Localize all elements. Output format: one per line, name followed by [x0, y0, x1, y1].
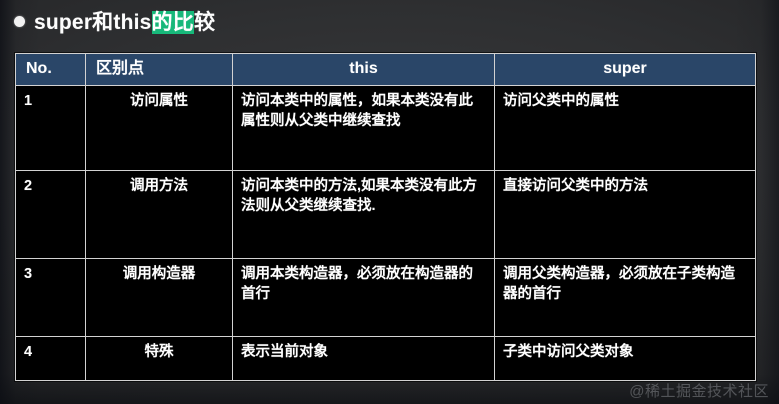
- page-title: super和this的比较: [34, 6, 215, 36]
- cell-point: 调用构造器: [86, 258, 233, 336]
- title-highlighted-segment: 的比: [152, 11, 194, 34]
- title-prefix: super和this: [34, 11, 152, 34]
- table-row: 3 调用构造器 调用本类构造器，必须放在构造器的首行 调用父类构造器，必须放在子…: [16, 258, 756, 336]
- table-row: 2 调用方法 访问本类中的方法,如果本类没有此方法则从父类继续查找. 直接访问父…: [16, 170, 756, 258]
- column-header-point: 区别点: [86, 54, 233, 86]
- table-row: 1 访问属性 访问本类中的属性，如果本类没有此属性则从父类中继续查找 访问父类中…: [16, 85, 756, 170]
- cell-super: 直接访问父类中的方法: [495, 170, 756, 258]
- table-header: No. 区别点 this super: [16, 54, 756, 86]
- cell-this: 表示当前对象: [233, 336, 495, 380]
- bullet-dot-icon: [14, 16, 25, 27]
- title-suffix: 较: [194, 11, 215, 34]
- comparison-table: No. 区别点 this super 1 访问属性 访问本类中的属性，如果本类没…: [15, 53, 756, 381]
- column-header-no: No.: [16, 54, 86, 86]
- column-header-super: super: [495, 54, 756, 86]
- watermark: @稀土掘金技术社区: [629, 380, 769, 401]
- cell-super: 子类中访问父类对象: [495, 336, 756, 380]
- cell-this: 调用本类构造器，必须放在构造器的首行: [233, 258, 495, 336]
- cell-point: 特殊: [86, 336, 233, 380]
- cell-no: 1: [16, 85, 86, 170]
- column-header-this: this: [233, 54, 495, 86]
- table-body: 1 访问属性 访问本类中的属性，如果本类没有此属性则从父类中继续查找 访问父类中…: [16, 85, 756, 380]
- table-header-row: No. 区别点 this super: [16, 54, 756, 86]
- cell-super: 调用父类构造器，必须放在子类构造器的首行: [495, 258, 756, 336]
- cell-no: 2: [16, 170, 86, 258]
- cell-no: 4: [16, 336, 86, 380]
- slide-title: super和this的比较: [14, 6, 215, 36]
- cell-this: 访问本类中的方法,如果本类没有此方法则从父类继续查找.: [233, 170, 495, 258]
- cell-no: 3: [16, 258, 86, 336]
- cell-point: 访问属性: [86, 85, 233, 170]
- table-row: 4 特殊 表示当前对象 子类中访问父类对象: [16, 336, 756, 380]
- cell-this: 访问本类中的属性，如果本类没有此属性则从父类中继续查找: [233, 85, 495, 170]
- slide-canvas: super和this的比较 No. 区别点 this super 1 访问属性 …: [0, 0, 779, 404]
- cell-point: 调用方法: [86, 170, 233, 258]
- cell-super: 访问父类中的属性: [495, 85, 756, 170]
